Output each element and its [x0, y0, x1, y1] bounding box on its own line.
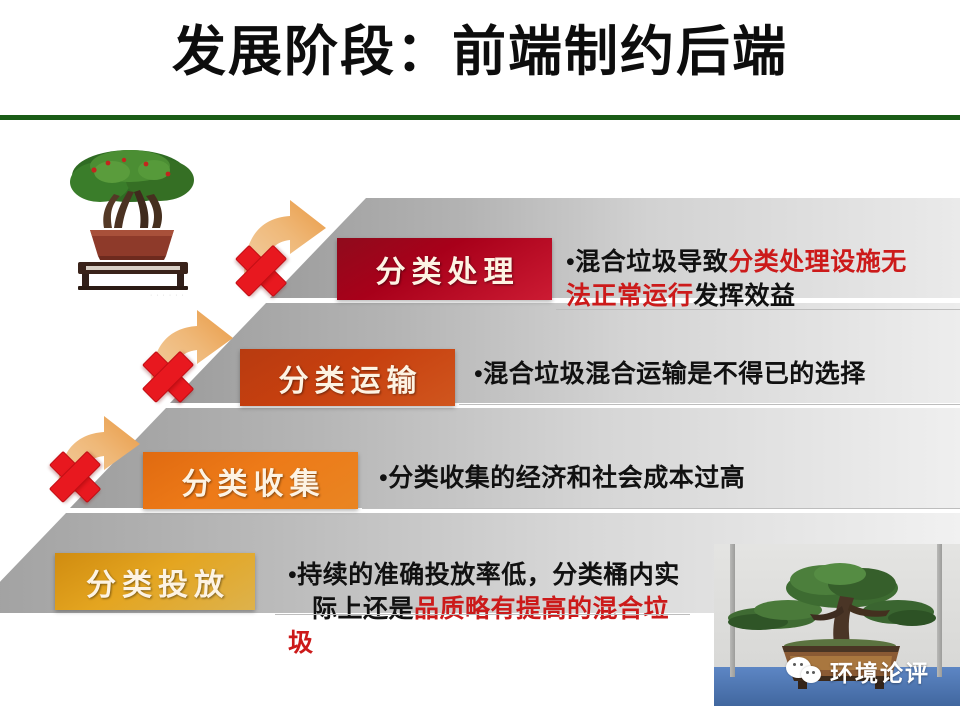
stage-label-treatment: 分类处理: [370, 247, 520, 291]
wechat-watermark-text: 环境论评: [830, 654, 930, 688]
bullet-disposal-line2-prefix: 际上还是: [312, 596, 414, 623]
deciduous-bonsai-photo: [42, 136, 222, 296]
bullet-disposal-underline: [275, 614, 690, 615]
title-area: 发展阶段：前端制约后端: [0, 0, 960, 117]
bullet-disposal-line1: •持续的准确投放率低，分类桶内实: [288, 562, 680, 589]
bullet-transport: •混合垃圾混合运输是不得已的选择: [474, 358, 914, 392]
wechat-logo-icon: [786, 655, 826, 687]
bullet-treatment-underline: [556, 309, 960, 310]
bullet-transport-underline: [459, 404, 960, 405]
slide-canvas: 发展阶段：前端制约后端: [0, 0, 960, 720]
stage-box-collection[interactable]: 分类收集: [143, 452, 358, 509]
bullet-treatment-line2-highlight: 法正常运行: [566, 283, 694, 310]
bullet-transport-line1: •混合垃圾混合运输是不得已的选择: [474, 361, 866, 388]
page-title: 发展阶段：前端制约后端: [0, 16, 960, 88]
bullet-treatment-line1-prefix: •混合垃圾导致: [566, 249, 728, 276]
wechat-watermark: 环境论评: [786, 654, 930, 688]
red-x-icon-2: [133, 342, 203, 412]
stage-box-disposal[interactable]: 分类投放: [55, 553, 255, 610]
bullet-treatment-line2-suffix: 发挥效益: [694, 283, 796, 310]
bullet-disposal: •持续的准确投放率低，分类桶内实 际上还是品质略有提高的混合垃圾: [288, 559, 688, 661]
bullet-collection-line1: •分类收集的经济和社会成本过高: [379, 465, 745, 492]
bullet-treatment: •混合垃圾导致分类处理设施无 法正常运行发挥效益: [566, 246, 916, 314]
bullet-collection-underline: [362, 508, 960, 509]
deciduous-bonsai-art: [42, 136, 222, 296]
red-x-icon-3: [40, 442, 110, 512]
bullet-treatment-line1-highlight: 分类处理设施无: [728, 249, 907, 276]
stage-box-treatment[interactable]: 分类处理: [337, 238, 552, 300]
stage-label-transport: 分类运输: [273, 356, 423, 400]
stage-label-collection: 分类收集: [176, 459, 326, 503]
stage-box-transport[interactable]: 分类运输: [240, 349, 455, 406]
title-divider-rule: [0, 115, 960, 120]
bullet-collection: •分类收集的经济和社会成本过高: [379, 462, 819, 496]
stage-label-disposal: 分类投放: [80, 560, 230, 604]
red-x-icon-1: [226, 236, 296, 306]
source-watermark-top: · · · · · ·: [150, 292, 185, 299]
